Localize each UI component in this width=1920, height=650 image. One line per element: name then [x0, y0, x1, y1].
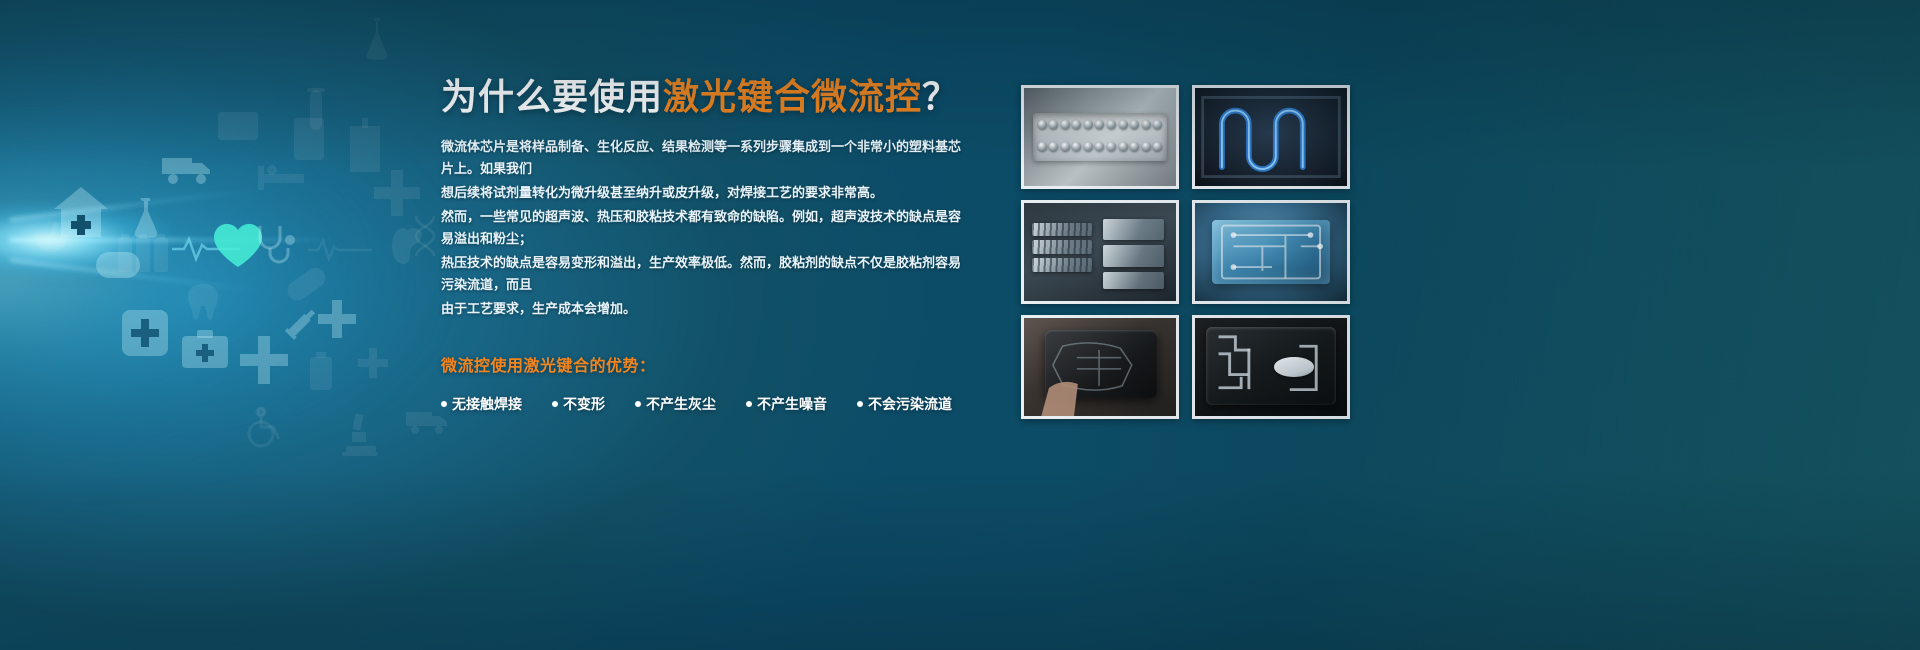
banner-content: 为什么要使用激光键合微流控？ 微流体芯片是将样品制备、生化反应、结果检测等一系列…	[441, 76, 971, 414]
headline-accent: 激光键合微流控	[663, 76, 922, 117]
bullet-dot-icon	[441, 401, 447, 407]
paragraph-line: 然而，一些常见的超声波、热压和胶粘技术都有致命的缺陷。例如，超声波技术的缺点是容…	[441, 206, 971, 250]
bullet-dot-icon	[552, 401, 558, 407]
gallery-item-striped-clear-plates[interactable]	[1021, 200, 1179, 304]
gallery-item-black-cassette-with-oval-window[interactable]	[1192, 315, 1350, 419]
product-photo	[1024, 88, 1176, 186]
light-burst-core	[0, 205, 170, 275]
list-item-label: 不产生灰尘	[646, 394, 716, 414]
list-item: 不变形	[552, 394, 605, 414]
bullet-dot-icon	[746, 401, 752, 407]
bullet-dot-icon	[635, 401, 641, 407]
gallery-item-black-flexible-chip-in-hand[interactable]	[1021, 315, 1179, 419]
paragraph-line: 由于工艺要求，生产成本会增加。	[441, 298, 971, 320]
page-title: 为什么要使用激光键合微流控？	[441, 76, 971, 118]
advantages-list: 无接触焊接 不变形 不产生灰尘 不产生噪音 不会污染流道	[441, 394, 971, 414]
flask-icon	[358, 16, 394, 62]
product-photo	[1195, 203, 1347, 301]
list-item-label: 不产生噪音	[757, 394, 827, 414]
paragraph-line: 想后续将试剂量转化为微升级甚至纳升或皮升级，对焊接工艺的要求非常高。	[441, 182, 971, 204]
product-photo	[1024, 318, 1176, 416]
list-item-label: 不会污染流道	[868, 394, 952, 414]
advantages-title: 微流控使用激光键合的优势：	[441, 352, 971, 376]
list-item: 不产生噪音	[746, 394, 827, 414]
product-photo	[1195, 318, 1347, 416]
list-item-label: 不变形	[563, 394, 605, 414]
product-photo	[1024, 203, 1176, 301]
headline-prefix: 为什么要使用	[441, 76, 663, 117]
bullet-dot-icon	[857, 401, 863, 407]
list-item: 不产生灰尘	[635, 394, 716, 414]
headline-suffix: ？	[922, 76, 959, 117]
paragraph-line: 热压技术的缺点是容易变形和溢出，生产效率极低。然而，胶粘剂的缺点不仅是胶粘剂容易…	[441, 252, 971, 296]
list-item-label: 无接触焊接	[452, 394, 522, 414]
gallery-item-microfluidic-chip-round-wells[interactable]	[1021, 85, 1179, 189]
description-paragraph: 微流体芯片是将样品制备、生化反应、结果检测等一系列步骤集成到一个非常小的塑料基芯…	[441, 136, 971, 320]
promo-banner: 为什么要使用激光键合微流控？ 微流体芯片是将样品制备、生化反应、结果检测等一系列…	[0, 0, 1920, 650]
list-item: 无接触焊接	[441, 394, 522, 414]
gallery-item-serpentine-channel-chip[interactable]	[1192, 85, 1350, 189]
gallery-item-blue-transparent-manifold[interactable]	[1192, 200, 1350, 304]
product-gallery	[1021, 85, 1350, 419]
list-item: 不会污染流道	[857, 394, 952, 414]
product-photo	[1195, 88, 1347, 186]
paragraph-line: 微流体芯片是将样品制备、生化反应、结果检测等一系列步骤集成到一个非常小的塑料基芯…	[441, 136, 971, 180]
